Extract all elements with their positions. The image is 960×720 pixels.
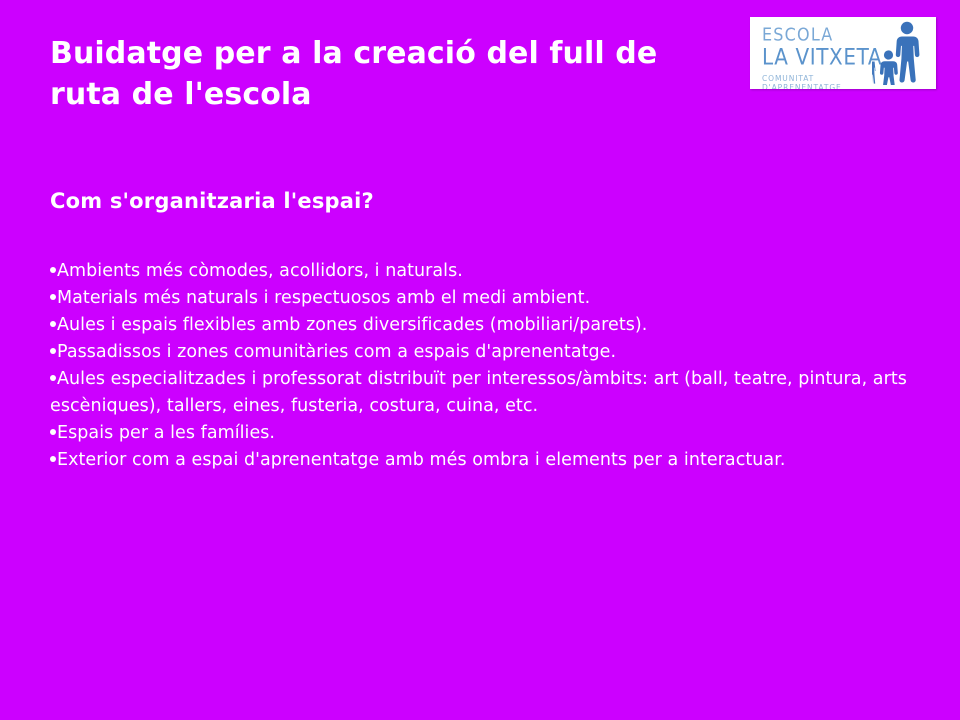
list-item: Aules especialitzades i professorat dist… <box>50 366 918 420</box>
list-item-text: Passadissos i zones comunitàries com a e… <box>57 342 616 362</box>
list-item-text: Espais per a les famílies. <box>57 423 275 443</box>
list-item-text: Aules i espais flexibles amb zones diver… <box>57 315 647 335</box>
list-item-text: Materials més naturals i respectuosos am… <box>57 288 590 308</box>
logo-line-la-vitxeta: LA VITXETA <box>762 46 884 69</box>
bullet-dot-icon <box>50 375 56 381</box>
response-bullet-list: Ambients més còmodes, acollidors, i natu… <box>50 258 918 474</box>
slide-canvas: Buidatge per a la creació del full de ru… <box>0 0 960 720</box>
list-item: Ambients més còmodes, acollidors, i natu… <box>50 258 918 285</box>
logo-line-tagline: COMUNITAT D'APRENENTATGE <box>762 74 884 89</box>
adult-and-child-silhouette-icon <box>872 21 928 85</box>
page-title: Buidatge per a la creació del full de ru… <box>50 33 710 115</box>
school-logo: ESCOLA LA VITXETA COMUNITAT D'APRENENTAT… <box>750 17 936 89</box>
list-item-text: Exterior com a espai d'aprenentatge amb … <box>57 450 785 470</box>
list-item: Exterior com a espai d'aprenentatge amb … <box>50 447 918 474</box>
list-item-text: Ambients més còmodes, acollidors, i natu… <box>57 261 463 281</box>
bullet-dot-icon <box>50 321 56 327</box>
logo-wordmark: ESCOLA LA VITXETA COMUNITAT D'APRENENTAT… <box>762 25 884 89</box>
list-item: Espais per a les famílies. <box>50 420 918 447</box>
bullet-dot-icon <box>50 267 56 273</box>
list-item: Passadissos i zones comunitàries com a e… <box>50 339 918 366</box>
bullet-dot-icon <box>50 429 56 435</box>
list-item-text: Aules especialitzades i professorat dist… <box>50 369 907 416</box>
bullet-dot-icon <box>50 294 56 300</box>
bullet-dot-icon <box>50 348 56 354</box>
section-heading: Com s'organitzaria l'espai? <box>50 188 374 214</box>
bullet-dot-icon <box>50 456 56 462</box>
logo-line-escola: ESCOLA <box>762 25 884 44</box>
list-item: Materials més naturals i respectuosos am… <box>50 285 918 312</box>
logo-inner: ESCOLA LA VITXETA COMUNITAT D'APRENENTAT… <box>750 17 936 89</box>
list-item: Aules i espais flexibles amb zones diver… <box>50 312 918 339</box>
